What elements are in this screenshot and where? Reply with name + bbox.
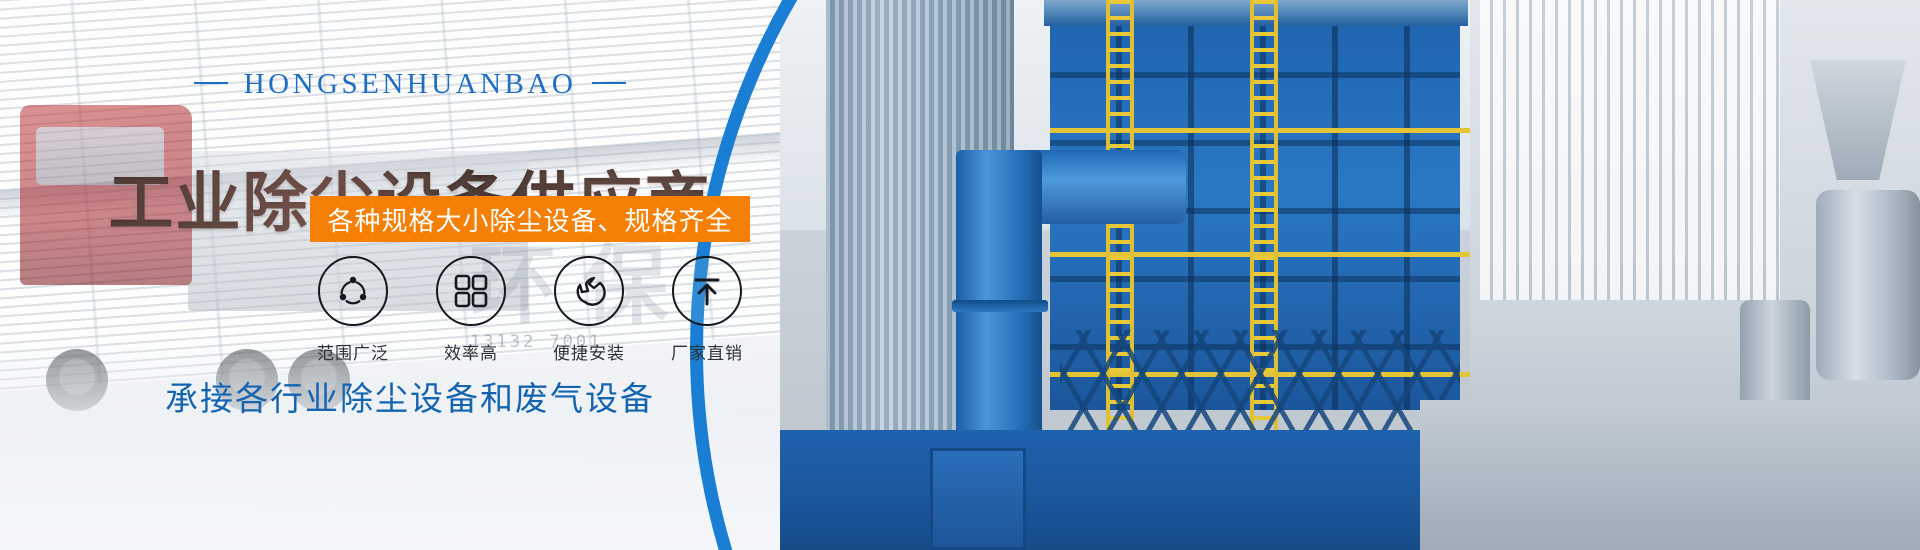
promo-bar-text: 各种规格大小除尘设备、规格齐全 (327, 201, 732, 238)
concrete-apron (1420, 400, 1920, 550)
industrial-photo-clip (780, 0, 1920, 550)
storage-tank (1816, 190, 1920, 380)
grid-squares-icon (436, 256, 506, 326)
industrial-photo (780, 0, 1920, 550)
tagline: 承接各行业除尘设备和废气设备 (0, 372, 820, 420)
eyebrow-text: HONGSENHUANBAO (244, 68, 577, 100)
eyebrow-dash-right (592, 82, 626, 84)
network-nodes-icon (318, 256, 388, 326)
feature-label: 厂家直销 (654, 339, 760, 364)
feature-list: 范围广泛 效率高 (300, 256, 760, 364)
duct-flange (952, 300, 1048, 312)
wrench-icon (554, 256, 624, 326)
hero-banner: 环保 13132 7001 (0, 0, 1920, 550)
promo-bar: 各种规格大小除尘设备、规格齐全 (310, 196, 750, 242)
up-arrow-icon (672, 256, 742, 326)
eyebrow-dash-left (194, 82, 228, 84)
feature-item-range[interactable]: 范围广泛 (300, 256, 406, 364)
feature-item-efficiency[interactable]: 效率高 (418, 256, 524, 364)
feature-label: 便捷安装 (536, 339, 642, 364)
access-door (930, 448, 1026, 550)
feature-item-install[interactable]: 便捷安装 (536, 256, 642, 364)
feature-item-direct-sale[interactable]: 厂家直销 (654, 256, 760, 364)
feature-label: 效率高 (418, 339, 524, 364)
feature-label: 范围广泛 (300, 339, 406, 364)
plant-wall-panels (1480, 0, 1780, 300)
support-frame (1060, 330, 1460, 440)
brand-eyebrow: HONGSENHUANBAO (0, 68, 820, 101)
hero-content: HONGSENHUANBAO 工业除尘设备供应商 各种规格大小除尘设备、规格齐全 (0, 0, 820, 550)
